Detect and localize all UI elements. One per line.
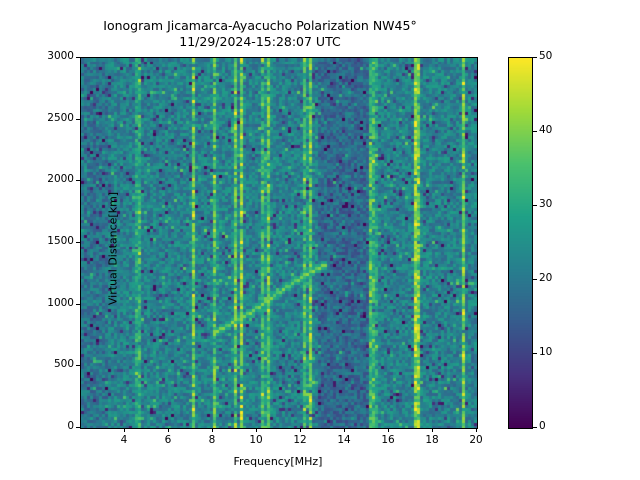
y-tick-1000: 1000 [32,297,74,309]
tick-mark [256,428,257,432]
heatmap-plot-area [80,57,478,429]
y-axis-label: Virtual Distance[km] [107,64,120,434]
x-tick-20: 20 [456,434,496,446]
x-tick-6: 6 [148,434,188,446]
tick-mark [76,365,80,366]
x-tick-10: 10 [236,434,276,446]
x-tick-8: 8 [192,434,232,446]
tick-mark [476,428,477,432]
colorbar-tick-0: 0 [539,420,563,432]
colorbar-tick-20: 20 [539,272,563,284]
x-tick-4: 4 [104,434,144,446]
tick-mark [168,428,169,432]
y-tick-0: 0 [32,420,74,432]
colorbar-tick-30: 30 [539,198,563,210]
y-tick-2000: 2000 [32,173,74,185]
x-tick-12: 12 [280,434,320,446]
colorbar-gradient [509,58,532,428]
tick-mark [533,353,537,354]
tick-mark [212,428,213,432]
x-tick-14: 14 [324,434,364,446]
chart-figure: Ionogram Jicamarca-Ayacucho Polarization… [0,0,640,480]
tick-mark [300,428,301,432]
x-tick-18: 18 [412,434,452,446]
tick-mark [388,428,389,432]
tick-mark [533,427,537,428]
ionogram-heatmap [81,58,477,428]
tick-mark [76,304,80,305]
tick-mark [76,57,80,58]
tick-mark [533,279,537,280]
tick-mark [76,119,80,120]
colorbar-tick-40: 40 [539,124,563,136]
tick-mark [533,57,537,58]
y-tick-2500: 2500 [32,112,74,124]
colorbar [508,57,533,429]
x-tick-16: 16 [368,434,408,446]
tick-mark [76,242,80,243]
y-tick-1500: 1500 [32,235,74,247]
colorbar-tick-50: 50 [539,50,563,62]
colorbar-tick-10: 10 [539,346,563,358]
y-tick-3000: 3000 [32,50,74,62]
tick-mark [344,428,345,432]
y-tick-500: 500 [32,358,74,370]
chart-title-line-2: 11/29/2024-15:28:07 UTC [179,34,340,49]
tick-mark [76,427,80,428]
tick-mark [76,180,80,181]
tick-mark [533,131,537,132]
tick-mark [124,428,125,432]
tick-mark [432,428,433,432]
chart-title: Ionogram Jicamarca-Ayacucho Polarization… [0,18,520,50]
chart-title-line-1: Ionogram Jicamarca-Ayacucho Polarization… [103,18,416,33]
tick-mark [533,205,537,206]
x-axis-label: Frequency[MHz] [80,455,476,468]
